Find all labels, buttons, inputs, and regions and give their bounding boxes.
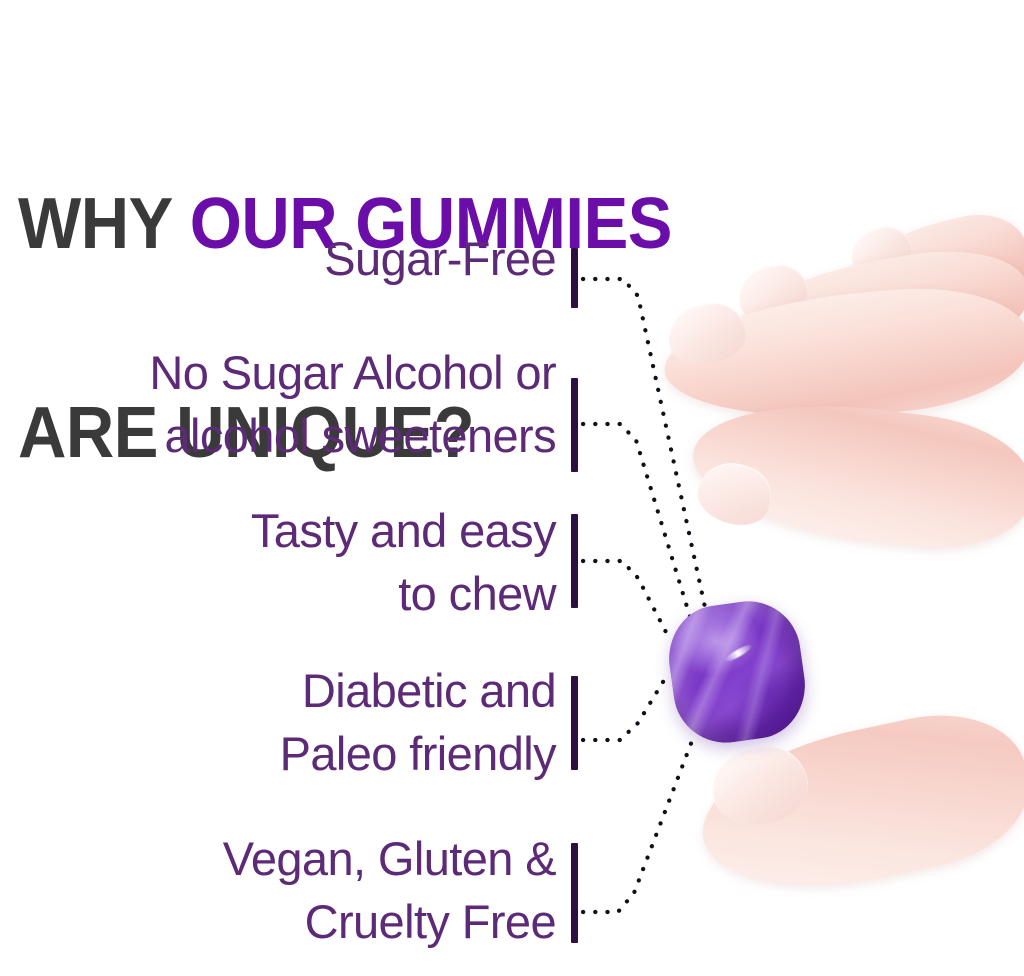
benefit-marker-bar-2 [571,378,578,472]
benefit-marker-bar-1 [571,248,578,308]
gummy-surface-texture [662,594,812,749]
benefit-marker-bar-3 [571,514,578,608]
hand-holding-gummy-photo [612,218,1024,976]
headline-line-1-prefix: WHY [18,184,190,264]
benefit-label-diabetic-paleo: Diabetic and Paleo friendly [280,660,556,785]
benefit-marker-bar-5 [571,843,578,943]
purple-gummy [662,594,812,749]
benefit-label-no-sugar-alcohol: No Sugar Alcohol or alcohol sweeteners [149,342,556,467]
benefit-label-tasty-easy-chew: Tasty and easy to chew [251,500,556,625]
benefit-label-vegan-gluten: Vegan, Gluten & Cruelty Free [223,828,556,953]
gummies-benefits-infographic: WHY OUR GUMMIES ARE UNIQUE? Sugar-Free N… [0,0,1024,976]
benefit-marker-bar-4 [571,676,578,770]
benefit-label-sugar-free: Sugar-Free [324,228,556,291]
